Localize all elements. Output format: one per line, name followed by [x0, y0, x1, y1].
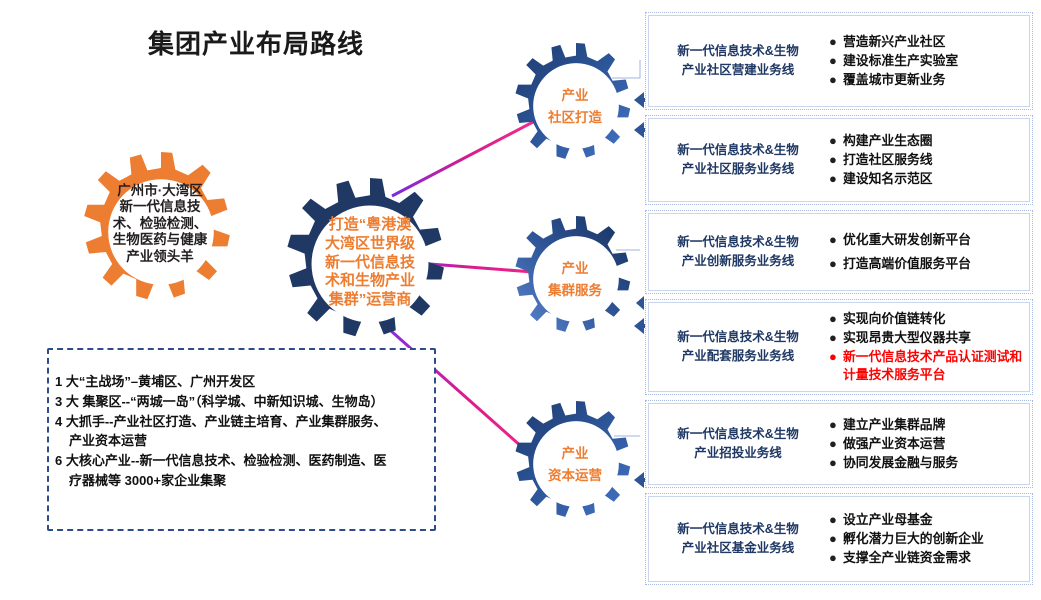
panel-inner: 新一代信息技术&生物 产业社区基金业务线 ● 设立产业母基金 ● 孵化潜力巨大的… — [648, 496, 1030, 582]
panel-label-line1: 新一代信息技术&生物 — [653, 328, 823, 347]
connector-line-community — [392, 122, 533, 196]
panel-item-text: 实现向价值链转化 — [843, 310, 1023, 328]
panel-item[interactable]: ● 支撑全产业链资金需求 — [829, 549, 1023, 567]
panel-item[interactable]: ● 优化重大研发创新平台 — [829, 231, 1023, 249]
panel-item-text: 设立产业母基金 — [843, 511, 1023, 529]
panel-item[interactable]: ● 营造新兴产业社区 — [829, 33, 1023, 51]
note-line-4-cont: 疗器械等 3000+家企业集聚 — [55, 471, 435, 491]
note-line-3-cont: 产业资本运营 — [55, 431, 435, 451]
panel-label: 新一代信息技术&生物 产业社区基金业务线 — [653, 520, 823, 559]
bullet-dot-icon: ● — [829, 33, 843, 51]
panel-item[interactable]: ● 建立产业集群品牌 — [829, 416, 1023, 434]
panel-label-line2: 产业创新服务业务线 — [653, 252, 823, 271]
panel-inner: 新一代信息技术&生物 产业配套服务业务线 ● 实现向价值链转化 ● 实现昂贵大型… — [648, 302, 1030, 392]
panel-item[interactable]: ● 建设标准生产实验室 — [829, 52, 1023, 70]
panel-label: 新一代信息技术&生物 产业创新服务业务线 — [653, 233, 823, 272]
panel-supporting-service[interactable]: 新一代信息技术&生物 产业配套服务业务线 ● 实现向价值链转化 ● 实现昂贵大型… — [645, 299, 1033, 395]
panel-item[interactable]: ● 做强产业资本运营 — [829, 435, 1023, 453]
panel-item[interactable]: ● 设立产业母基金 — [829, 511, 1023, 529]
industry-capital-operation-gear — [516, 401, 631, 517]
panel-item[interactable]: ● 打造社区服务线 — [829, 151, 1023, 169]
panel-item-text: 做强产业资本运营 — [843, 435, 1023, 453]
panel-label-line1: 新一代信息技术&生物 — [653, 42, 823, 61]
panel-community-fund[interactable]: 新一代信息技术&生物 产业社区基金业务线 ● 设立产业母基金 ● 孵化潜力巨大的… — [645, 493, 1033, 585]
panel-item-text: 打造高端价值服务平台 — [843, 255, 1023, 273]
bullet-dot-icon: ● — [829, 329, 843, 347]
bullet-dot-icon: ● — [829, 170, 843, 188]
panel-label: 新一代信息技术&生物 产业招投业务线 — [653, 425, 823, 464]
bullet-dot-icon: ● — [829, 151, 843, 169]
bullet-dot-icon: ● — [829, 310, 843, 328]
panel-label-line2: 产业社区基金业务线 — [653, 539, 823, 558]
panel-item[interactable]: ● 实现向价值链转化 — [829, 310, 1023, 328]
bullet-dot-icon: ● — [829, 348, 843, 366]
bullet-dot-icon: ● — [829, 71, 843, 89]
panel-item-text: 建设标准生产实验室 — [843, 52, 1023, 70]
panel-item-text: 实现昂贵大型仪器共享 — [843, 329, 1023, 347]
panel-label-line2: 产业社区服务业务线 — [653, 160, 823, 179]
panel-item-text: 建立产业集群品牌 — [843, 416, 1023, 434]
panel-label-line1: 新一代信息技术&生物 — [653, 520, 823, 539]
panel-item-text: 建设知名示范区 — [843, 170, 1023, 188]
panel-label: 新一代信息技术&生物 产业社区营建业务线 — [653, 42, 823, 81]
panel-items: ● 实现向价值链转化 ● 实现昂贵大型仪器共享 ● 新一代信息技术产品认证测试和… — [823, 309, 1023, 386]
panel-label: 新一代信息技术&生物 产业配套服务业务线 — [653, 328, 823, 367]
note-line-2: 3 大 集聚区--“两城一岛”（科学城、中新知识城、生物岛） — [55, 392, 435, 412]
note-line-4: 6 大核心产业--新一代信息技术、检验检测、医药制造、医 — [55, 451, 435, 471]
panel-label: 新一代信息技术&生物 产业社区服务业务线 — [653, 141, 823, 180]
panel-label-line1: 新一代信息技术&生物 — [653, 233, 823, 252]
panel-items: ● 优化重大研发创新平台 ● 打造高端价值服务平台 — [823, 225, 1023, 279]
industry-community-build-gear — [516, 43, 631, 159]
panel-inner: 新一代信息技术&生物 产业社区营建业务线 ● 营造新兴产业社区 ● 建设标准生产… — [648, 15, 1030, 107]
panel-item-text: 构建产业生态圈 — [843, 132, 1023, 150]
panel-label-line2: 产业社区营建业务线 — [653, 61, 823, 80]
panel-investment-attraction[interactable]: 新一代信息技术&生物 产业招投业务线 ● 建立产业集群品牌 ● 做强产业资本运营… — [645, 400, 1033, 488]
panel-inner: 新一代信息技术&生物 产业招投业务线 ● 建立产业集群品牌 ● 做强产业资本运营… — [648, 403, 1030, 485]
panel-item-text: 覆盖城市更新业务 — [843, 71, 1023, 89]
bullet-dot-icon: ● — [829, 416, 843, 434]
panel-item-text: 打造社区服务线 — [843, 151, 1023, 169]
industry-cluster-service-gear — [516, 216, 631, 332]
panel-label-line2: 产业配套服务业务线 — [653, 347, 823, 366]
panel-item-text: 支撑全产业链资金需求 — [843, 549, 1023, 567]
note-line-1: 1 大“主战场”–黄埔区、广州开发区 — [55, 372, 435, 392]
center-operator-gear — [287, 178, 444, 336]
panel-item[interactable]: ● 覆盖城市更新业务 — [829, 71, 1023, 89]
panel-innovation-service[interactable]: 新一代信息技术&生物 产业创新服务业务线 ● 优化重大研发创新平台 ● 打造高端… — [645, 210, 1033, 294]
panel-items: ● 建立产业集群品牌 ● 做强产业资本运营 ● 协同发展金融与服务 — [823, 415, 1023, 473]
panel-community-service[interactable]: 新一代信息技术&生物 产业社区服务业务线 ● 构建产业生态圈 ● 打造社区服务线… — [645, 115, 1033, 205]
panel-item[interactable]: ● 建设知名示范区 — [829, 170, 1023, 188]
panel-item-text: 新一代信息技术产品认证测试和计量技术服务平台 — [843, 348, 1023, 384]
panel-inner: 新一代信息技术&生物 产业创新服务业务线 ● 优化重大研发创新平台 ● 打造高端… — [648, 213, 1030, 291]
panel-item-text: 营造新兴产业社区 — [843, 33, 1023, 51]
orange-lead-gear — [84, 152, 230, 299]
bullet-dot-icon: ● — [829, 511, 843, 529]
panel-item[interactable]: ● 构建产业生态圈 — [829, 132, 1023, 150]
diagram-canvas: 集团产业布局路线 — [0, 0, 1041, 600]
bullet-dot-icon: ● — [829, 231, 843, 249]
panel-inner: 新一代信息技术&生物 产业社区服务业务线 ● 构建产业生态圈 ● 打造社区服务线… — [648, 118, 1030, 202]
panel-community-construction[interactable]: 新一代信息技术&生物 产业社区营建业务线 ● 营造新兴产业社区 ● 建设标准生产… — [645, 12, 1033, 110]
panel-item-text: 孵化潜力巨大的创新企业 — [843, 530, 1023, 548]
panel-arrow-4 — [636, 296, 644, 310]
panel-item-text: 协同发展金融与服务 — [843, 454, 1023, 472]
bullet-dot-icon: ● — [829, 52, 843, 70]
panel-item-text: 优化重大研发创新平台 — [843, 231, 1023, 249]
panel-item[interactable]: ● 实现昂贵大型仪器共享 — [829, 329, 1023, 347]
bullet-dot-icon: ● — [829, 132, 843, 150]
note-line-3: 4 大抓手--产业社区打造、产业链主培育、产业集群服务、 — [55, 412, 435, 432]
panel-item[interactable]: ● 打造高端价值服务平台 — [829, 255, 1023, 273]
panel-label-line2: 产业招投业务线 — [653, 444, 823, 463]
panel-label-line1: 新一代信息技术&生物 — [653, 141, 823, 160]
bullet-dot-icon: ● — [829, 549, 843, 567]
panel-label-line1: 新一代信息技术&生物 — [653, 425, 823, 444]
bullet-dot-icon: ● — [829, 454, 843, 472]
bullet-dot-icon: ● — [829, 530, 843, 548]
panel-item[interactable]: ● 协同发展金融与服务 — [829, 454, 1023, 472]
panel-items: ● 营造新兴产业社区 ● 建设标准生产实验室 ● 覆盖城市更新业务 — [823, 32, 1023, 90]
panel-items: ● 设立产业母基金 ● 孵化潜力巨大的创新企业 ● 支撑全产业链资金需求 — [823, 510, 1023, 568]
panel-items: ● 构建产业生态圈 ● 打造社区服务线 ● 建设知名示范区 — [823, 131, 1023, 189]
bullet-dot-icon: ● — [829, 435, 843, 453]
panel-item[interactable]: ● 孵化潜力巨大的创新企业 — [829, 530, 1023, 548]
bullet-dot-icon: ● — [829, 255, 843, 273]
panel-item-highlighted[interactable]: ● 新一代信息技术产品认证测试和计量技术服务平台 — [829, 348, 1023, 384]
strategy-note-list: 1 大“主战场”–黄埔区、广州开发区 3 大 集聚区--“两城一岛”（科学城、中… — [55, 372, 435, 491]
